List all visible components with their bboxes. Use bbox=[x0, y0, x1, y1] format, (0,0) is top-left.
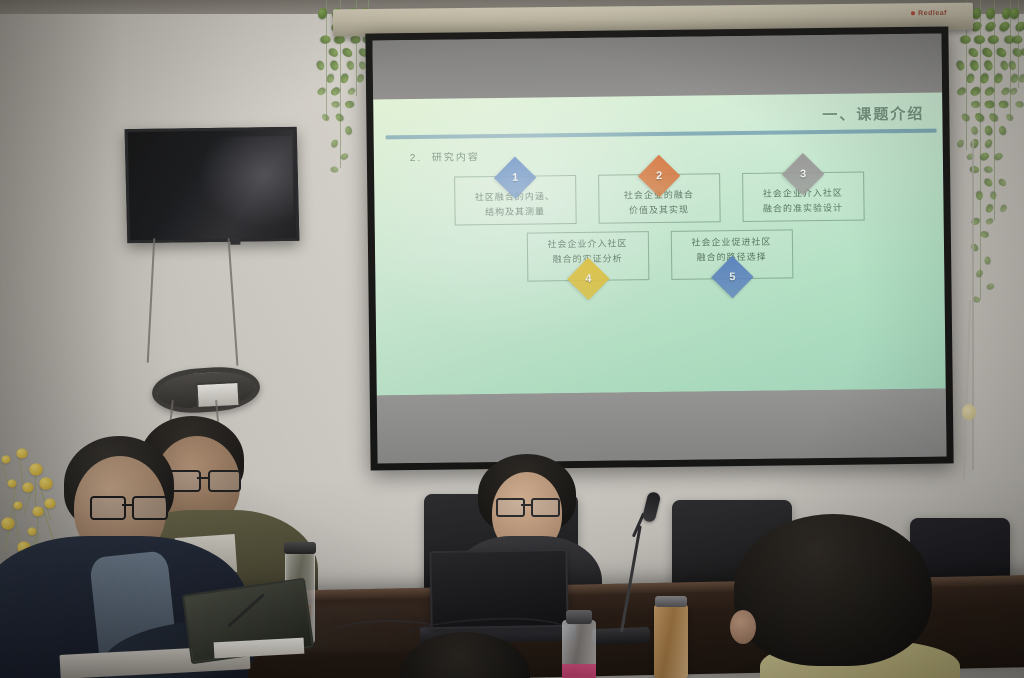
slide-node-4: 社会企业介入社区融合的实证分析4 bbox=[526, 231, 649, 281]
screen-letterbox-top bbox=[372, 34, 942, 100]
water-bottle bbox=[562, 620, 596, 678]
slide-node-number: 1 bbox=[511, 172, 517, 184]
eyeglasses bbox=[90, 496, 168, 516]
slide-node-number: 2 bbox=[655, 170, 661, 182]
wall-mounted-tv bbox=[125, 127, 300, 243]
slide-node-line: 社会企业介入社区 bbox=[547, 237, 627, 253]
slide-node-line: 价值及其实现 bbox=[629, 203, 689, 219]
presentation-slide: 一、课题介绍 2. 研究内容 社区融合的内涵、结构及其测量1社会企业的融合价值及… bbox=[373, 93, 946, 396]
wall-fixture bbox=[962, 404, 976, 420]
slide-section-heading: 2. 研究内容 bbox=[410, 148, 480, 164]
wall-cord bbox=[972, 140, 974, 470]
slide-node-2: 社会企业的融合价值及其实现2 bbox=[598, 173, 721, 223]
cable-adapter-box bbox=[195, 381, 240, 409]
slide-node-line: 结构及其测量 bbox=[485, 205, 545, 221]
slide-node-number: 5 bbox=[729, 271, 735, 283]
conference-room-photo: Redleaf 一、课题介绍 2. 研究内容 社区融合的内涵、结构及其测量1社会… bbox=[0, 0, 1024, 678]
hand-raised bbox=[730, 610, 756, 644]
person-front-right bbox=[734, 514, 944, 678]
tv-mount-foot bbox=[230, 238, 240, 245]
thermos-cup bbox=[654, 604, 688, 678]
slide-node-line: 社会企业促进社区 bbox=[691, 235, 771, 251]
slide-node-1: 社区融合的内涵、结构及其测量1 bbox=[454, 175, 577, 225]
slide-title: 一、课题介绍 bbox=[822, 103, 924, 125]
tv-glare bbox=[192, 136, 294, 232]
slide-node-5: 社会企业促进社区融合的路径选择5 bbox=[670, 230, 793, 280]
slide-node-number: 4 bbox=[585, 273, 591, 285]
projection-screen: 一、课题介绍 2. 研究内容 社区融合的内涵、结构及其测量1社会企业的融合价值及… bbox=[365, 26, 953, 470]
slide-node-line: 融合的准实验设计 bbox=[763, 201, 843, 217]
hair bbox=[734, 514, 932, 666]
projector-brand-logo: Redleaf bbox=[911, 10, 947, 17]
slide-node-3: 社会企业介入社区融合的准实验设计3 bbox=[742, 172, 865, 222]
slide-node-number: 3 bbox=[799, 168, 805, 180]
slide-title-rule bbox=[386, 129, 937, 140]
slide-flow-diagram: 社区融合的内涵、结构及其测量1社会企业的融合价值及其实现2社会企业介入社区融合的… bbox=[374, 171, 944, 284]
screen-letterbox-bottom bbox=[377, 389, 947, 464]
eyeglasses bbox=[496, 498, 558, 513]
